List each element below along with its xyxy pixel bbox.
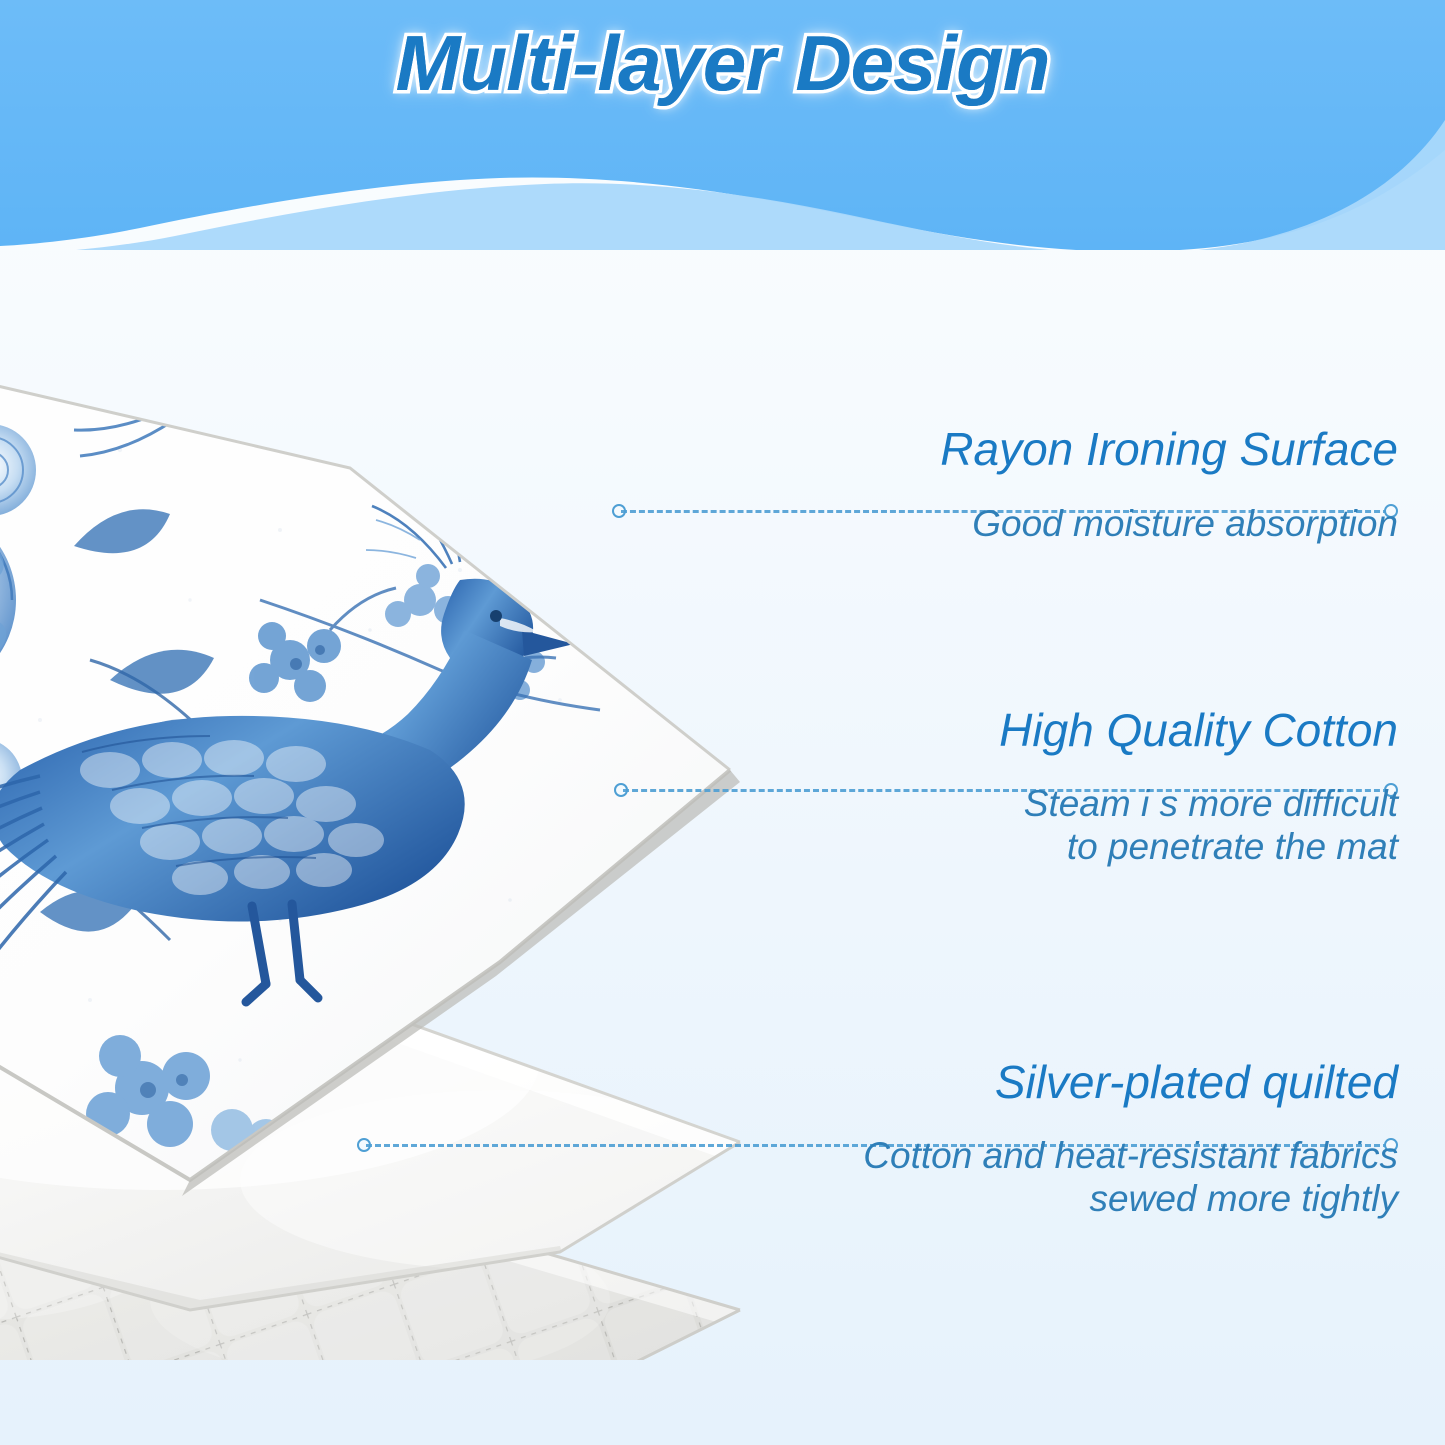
- feature-subtitle-line: Steam i s more difficult: [698, 783, 1398, 826]
- page-title: Multi-layer Design: [0, 18, 1445, 109]
- feature-title-2: High Quality Cotton: [698, 706, 1398, 755]
- feature-title-3: Silver-plated quilted: [698, 1058, 1398, 1107]
- feature-subtitle-line: to penetrate the mat: [698, 826, 1398, 869]
- feature-block-high-quality-cotton: High Quality Cotton Steam i s more diffi…: [698, 706, 1398, 869]
- feature-subtitle-2: Steam i s more difficult to penetrate th…: [698, 783, 1398, 869]
- feature-block-rayon-ironing-surface: Rayon Ironing Surface Good moisture abso…: [698, 425, 1398, 546]
- feature-subtitle-3: Cotton and heat-resistant fabrics sewed …: [698, 1135, 1398, 1221]
- feature-title-1: Rayon Ironing Surface: [698, 425, 1398, 474]
- feature-subtitle-line: sewed more tightly: [698, 1178, 1398, 1221]
- product-layers-illustration: [0, 300, 760, 1360]
- feature-subtitle-line: Good moisture absorption: [698, 503, 1398, 546]
- feature-subtitle-1: Good moisture absorption: [698, 503, 1398, 546]
- feature-block-silver-plated-quilted: Silver-plated quilted Cotton and heat-re…: [698, 1058, 1398, 1221]
- feature-subtitle-line: Cotton and heat-resistant fabrics: [698, 1135, 1398, 1178]
- infographic-canvas: Multi-layer Design Multi-layer Design: [0, 0, 1445, 1445]
- header-banner: Multi-layer Design Multi-layer Design: [0, 0, 1445, 250]
